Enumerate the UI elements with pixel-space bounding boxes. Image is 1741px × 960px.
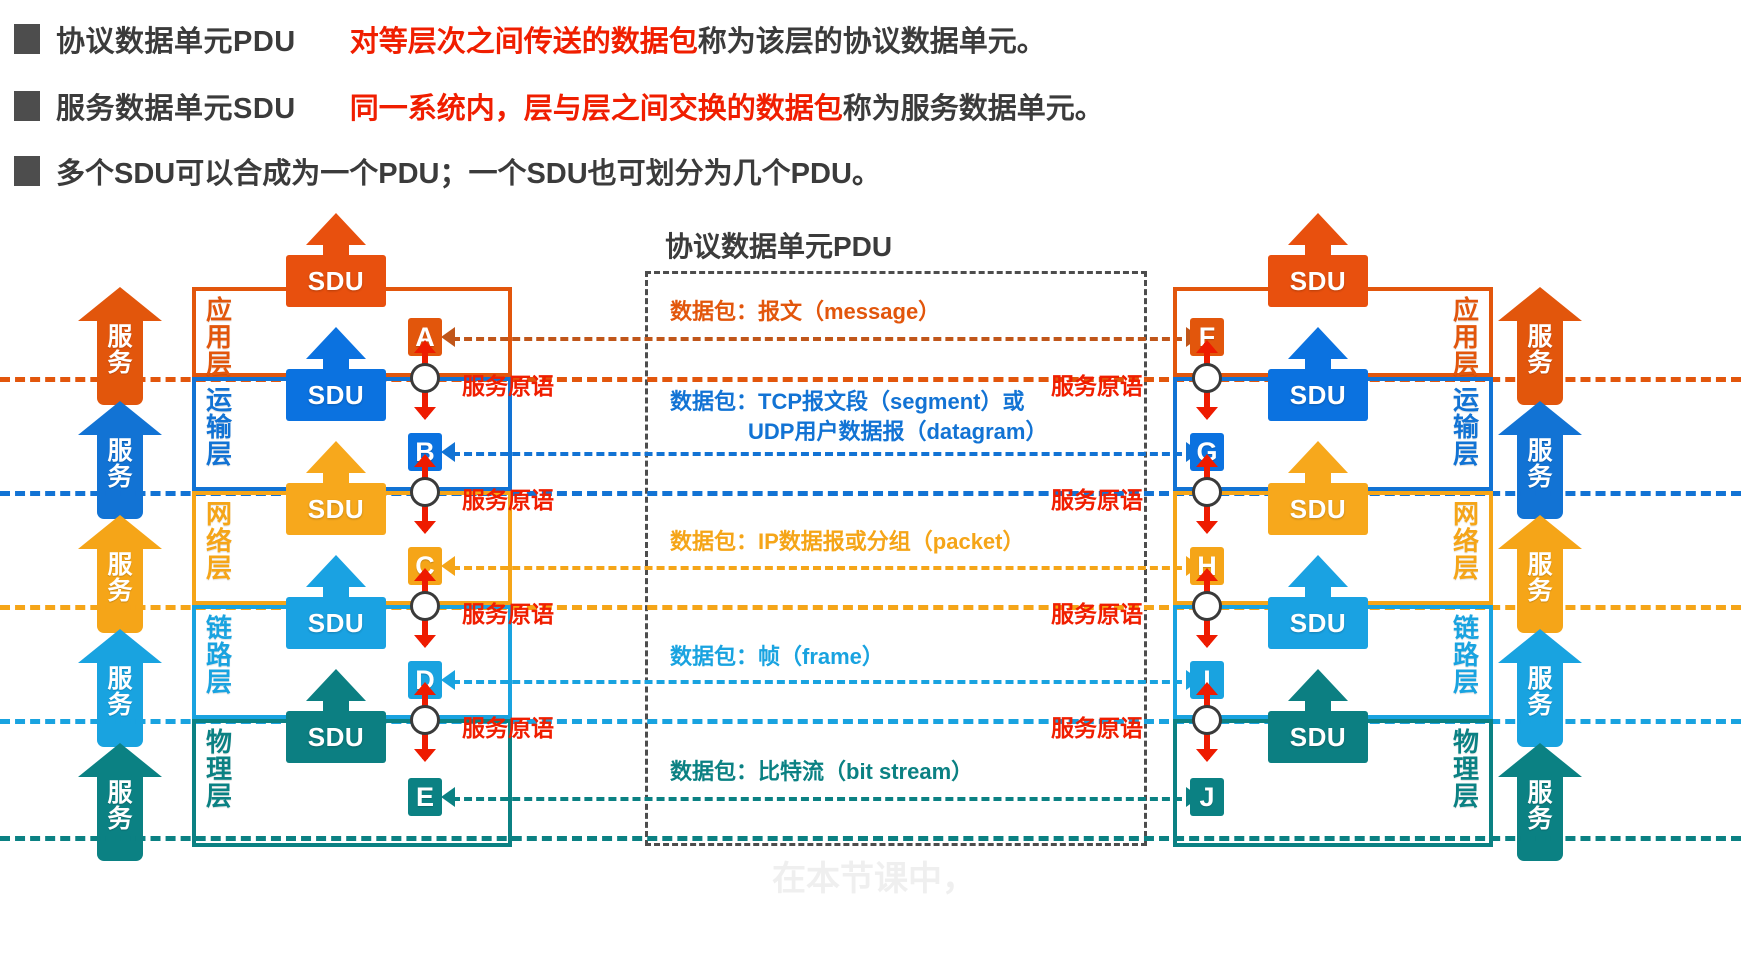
bullet-square-icon	[14, 24, 40, 54]
header-rest-3: 多个SDU可以合成为一个PDU；一个SDU也可划分为几个PDU。	[56, 150, 881, 192]
left-sdu-link: SDU	[286, 555, 386, 649]
left-layer-label-application: 应用层	[204, 297, 234, 378]
sdu-label: SDU	[1290, 380, 1346, 411]
service-arrow-right-transport: 服务	[1498, 401, 1582, 519]
left-primitive-label-4: 服务原语	[462, 709, 554, 743]
pdu-text-transport-line2: UDP用户数据报（datagram）	[748, 417, 1047, 447]
left-primitive-link-physical	[408, 685, 442, 759]
sdu-label: SDU	[1290, 608, 1346, 639]
right-layer-label-network: 网络层	[1451, 501, 1481, 582]
service-arrow-left-application: 服务	[78, 287, 162, 405]
header-row-3: 多个SDU可以合成为一个PDU；一个SDU也可划分为几个PDU。	[14, 150, 881, 192]
left-primitive-label-2: 服务原语	[462, 481, 554, 515]
bullet-square-icon	[14, 156, 40, 186]
header-rest-2: 称为服务数据单元。	[843, 85, 1104, 127]
right-primitive-label-4: 服务原语	[1051, 709, 1143, 743]
service-arrow-left-network: 服务	[78, 515, 162, 633]
left-primitive-label-3: 服务原语	[462, 595, 554, 629]
header-rest-1: 称为该层的协议数据单元。	[698, 18, 1046, 60]
right-sdu-link: SDU	[1268, 555, 1368, 649]
right-layer-label-transport: 运输层	[1451, 387, 1481, 468]
pdu-flow-link	[452, 680, 1194, 684]
right-primitive-label-3: 服务原语	[1051, 595, 1143, 629]
sdu-label: SDU	[308, 494, 364, 525]
right-sdu-transport: SDU	[1268, 327, 1368, 421]
left-sdu-physical: SDU	[286, 669, 386, 763]
left-layer-label-transport: 运输层	[204, 387, 234, 468]
diagram-canvas: 服务 服务 服务 服务 服务 服务 服务	[0, 205, 1741, 960]
service-arrow-right-link: 服务	[1498, 629, 1582, 747]
service-arrow-right-physical: 服务	[1498, 743, 1582, 861]
right-primitive-link-physical	[1190, 685, 1224, 759]
sdu-label: SDU	[1290, 494, 1346, 525]
center-pdu-title: 协议数据单元PDU	[665, 225, 892, 265]
right-primitive-app-transport	[1190, 343, 1224, 417]
pdu-text-application: 数据包：报文（message）	[670, 297, 940, 327]
service-arrow-label: 服务	[107, 781, 132, 832]
pdu-text-link: 数据包：帧（frame）	[670, 642, 884, 672]
sdu-label: SDU	[1290, 722, 1346, 753]
left-primitive-app-transport	[408, 343, 442, 417]
left-primitive-label-1: 服务原语	[462, 367, 554, 401]
service-arrow-label: 服务	[107, 667, 132, 718]
left-layer-label-physical: 物理层	[204, 729, 234, 810]
pdu-text-transport-line1: 数据包：TCP报文段（segment）或	[670, 389, 1024, 414]
right-sdu-physical: SDU	[1268, 669, 1368, 763]
left-sdu-application: SDU	[286, 213, 386, 307]
service-arrow-label: 服务	[1527, 553, 1552, 604]
header-bullets: 协议数据单元PDU 对等层次之间传送的数据包 称为该层的协议数据单元。 服务数据…	[0, 0, 1741, 200]
service-arrow-label: 服务	[1527, 439, 1552, 490]
pdu-flow-network	[452, 566, 1194, 570]
service-arrow-label: 服务	[107, 553, 132, 604]
service-arrow-left-physical: 服务	[78, 743, 162, 861]
service-arrow-left-transport: 服务	[78, 401, 162, 519]
left-sdu-transport: SDU	[286, 327, 386, 421]
service-arrow-left-link: 服务	[78, 629, 162, 747]
right-primitive-label-2: 服务原语	[1051, 481, 1143, 515]
header-row-2: 服务数据单元SDU 同一系统内，层与层之间交换的数据包 称为服务数据单元。	[14, 85, 1104, 127]
right-layer-label-link: 链路层	[1451, 615, 1481, 696]
sdu-label: SDU	[1290, 266, 1346, 297]
sdu-label: SDU	[308, 722, 364, 753]
watermark-text: 在本节课中，	[772, 851, 976, 900]
right-layer-label-application: 应用层	[1451, 297, 1481, 378]
left-layer-label-link: 链路层	[204, 615, 234, 696]
sdu-label: SDU	[308, 380, 364, 411]
sdu-label: SDU	[308, 266, 364, 297]
right-primitive-network-link	[1190, 571, 1224, 645]
left-sdu-network: SDU	[286, 441, 386, 535]
left-primitive-transport-network	[408, 457, 442, 531]
pdu-flow-physical	[452, 797, 1194, 801]
header-row-1: 协议数据单元PDU 对等层次之间传送的数据包 称为该层的协议数据单元。	[14, 18, 1046, 60]
service-arrow-label: 服务	[1527, 781, 1552, 832]
right-sdu-application: SDU	[1268, 213, 1368, 307]
service-arrow-label: 服务	[107, 439, 132, 490]
pdu-flow-application	[452, 337, 1194, 341]
header-term-2: 服务数据单元SDU	[56, 85, 296, 127]
right-primitive-label-1: 服务原语	[1051, 367, 1143, 401]
right-layer-label-physical: 物理层	[1451, 729, 1481, 810]
pdu-flow-transport	[452, 452, 1194, 456]
sdu-label: SDU	[308, 608, 364, 639]
pdu-text-transport: 数据包：TCP报文段（segment）或 UDP用户数据报（datagram）	[670, 387, 1047, 446]
left-primitive-network-link	[408, 571, 442, 645]
service-arrow-label: 服务	[1527, 667, 1552, 718]
header-highlight-1: 对等层次之间传送的数据包	[350, 18, 698, 60]
bullet-square-icon	[14, 91, 40, 121]
service-arrow-right-application: 服务	[1498, 287, 1582, 405]
header-term-1: 协议数据单元PDU	[56, 18, 296, 60]
right-sdu-network: SDU	[1268, 441, 1368, 535]
left-badge-E[interactable]: E	[408, 778, 442, 816]
service-arrow-right-network: 服务	[1498, 515, 1582, 633]
right-badge-J[interactable]: J	[1190, 778, 1224, 816]
service-arrow-label: 服务	[107, 325, 132, 376]
header-highlight-2: 同一系统内，层与层之间交换的数据包	[350, 85, 843, 127]
left-layer-label-network: 网络层	[204, 501, 234, 582]
pdu-text-physical: 数据包：比特流（bit stream）	[670, 757, 973, 787]
service-arrow-label: 服务	[1527, 325, 1552, 376]
right-primitive-transport-network	[1190, 457, 1224, 531]
pdu-text-network: 数据包：IP数据报或分组（packet）	[670, 527, 1025, 557]
